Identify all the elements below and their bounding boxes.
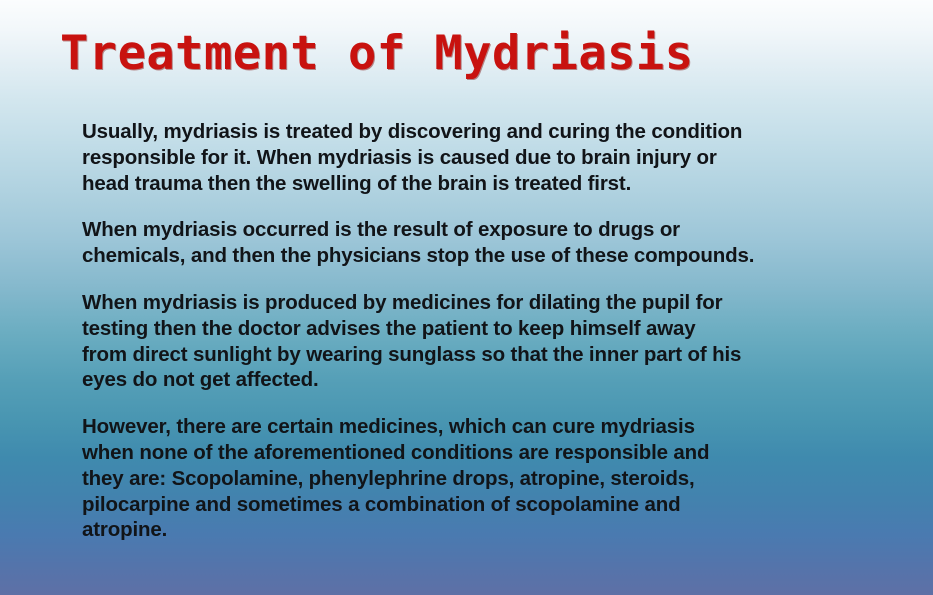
body-paragraph-4: However, there are certain medicines, wh… — [82, 414, 897, 543]
body-paragraph-2: When mydriasis occurred is the result of… — [82, 217, 897, 269]
body-paragraph-3: When mydriasis is produced by medicines … — [82, 290, 897, 393]
slide-title: Treatment of Mydriasis — [60, 28, 694, 80]
slide-body-content: Usually, mydriasis is treated by discove… — [82, 119, 897, 543]
presentation-slide: Treatment of Mydriasis Usually, mydriasi… — [0, 0, 933, 595]
body-paragraph-1: Usually, mydriasis is treated by discove… — [82, 119, 897, 196]
